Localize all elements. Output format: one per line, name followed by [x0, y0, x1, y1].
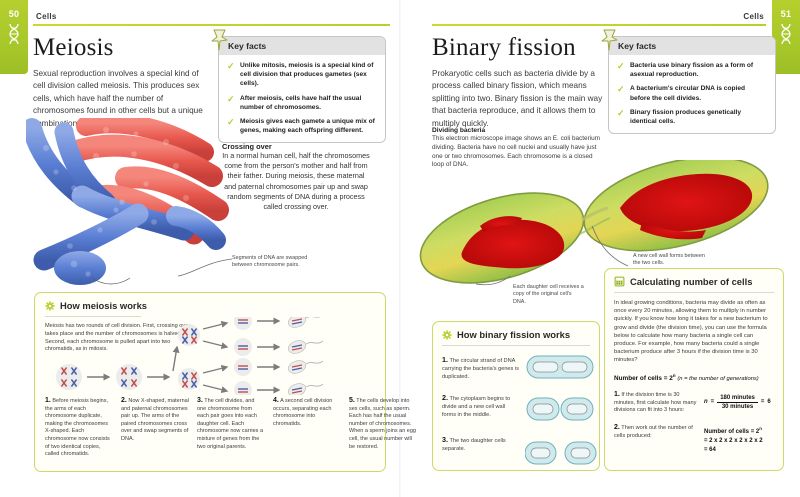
gear-icon — [45, 301, 55, 311]
header-rule-left — [33, 24, 390, 26]
meiosis-flow-diagram — [41, 317, 385, 395]
calculating-paragraph: In ideal growing conditions, bacteria ma… — [614, 299, 774, 365]
step-text: The cell divides, and one chromosome fro… — [197, 398, 263, 450]
calc-step-1: 1. If the division time is 30 minutes, f… — [614, 391, 774, 415]
page-tab-right: 51 — [772, 0, 800, 74]
step-number: 1. — [442, 355, 448, 364]
equation-label: Number of cells — [704, 429, 749, 435]
key-fact-item: ✓ Unlike mitosis, meiosis is a special k… — [227, 61, 377, 89]
step-number: 2. — [121, 397, 127, 404]
step-number: 1. — [45, 397, 51, 404]
cells-equation-line3: = 64 — [704, 446, 763, 455]
bf-step-1: 1. The circular strand of DNA carrying t… — [442, 356, 520, 381]
key-fact-text: After meiosis, cells have half the usual… — [240, 94, 377, 112]
panel-divider — [614, 292, 774, 293]
page-tab-left: 50 — [0, 0, 28, 74]
key-fact-item: ✓ After meiosis, cells have half the usu… — [227, 94, 377, 112]
dna-helix-icon — [779, 23, 793, 45]
crossing-over-title: Crossing over — [222, 142, 370, 151]
page-title-left: Meiosis — [33, 34, 114, 62]
diagram-cell-stage1 — [56, 364, 82, 390]
meiosis-step: 4. A second cell division occurs, separa… — [273, 397, 341, 459]
step-text: The cytoplasm begins to divide and a new… — [442, 396, 510, 418]
dividing-bacteria-title: Dividing bacteria — [432, 127, 602, 134]
page-number-left: 50 — [9, 9, 19, 19]
step-text: Then work out the number of cells produc… — [614, 425, 693, 439]
bacterium-left-cell — [414, 176, 594, 290]
how-meiosis-works-title-row: How meiosis works — [45, 300, 375, 311]
new-cell-wall-caption: A new cell wall forms between the two ce… — [633, 253, 711, 268]
check-icon: ✓ — [617, 84, 625, 102]
calc-step-2-text-wrap: 2. Then work out the number of cells pro… — [614, 424, 698, 441]
key-fact-text: Binary fission produces genetically iden… — [630, 108, 767, 126]
dna-helix-icon — [7, 23, 21, 45]
calculator-icon — [614, 276, 625, 287]
equation-result: 6 — [767, 399, 770, 405]
crossing-over-text: In a normal human cell, half the chromos… — [222, 151, 370, 212]
pushpin-icon — [600, 28, 622, 52]
how-binary-fission-works-panel: How binary fission works 1. The circular… — [432, 321, 600, 471]
key-fact-item: ✓ Meiosis gives each gamete a unique mix… — [227, 117, 377, 135]
key-fact-item: ✓ Binary fission produces genetically id… — [617, 108, 767, 126]
diagram-cell-stage3-bottom — [178, 368, 200, 390]
step-text: If the division time is 30 minutes, firs… — [614, 392, 696, 414]
calc-step-2: 2. Then work out the number of cells pro… — [614, 424, 774, 455]
check-icon: ✓ — [227, 94, 235, 112]
calc-step-1-text-wrap: 1. If the division time is 30 minutes, f… — [614, 391, 698, 415]
page-title-right: Binary fission — [432, 34, 576, 62]
step-number: 5. — [349, 397, 355, 404]
calc-step-2-equation: Number of cells = 2n = 2 x 2 x 2 x 2 x 2… — [704, 424, 763, 455]
key-fact-text: Meiosis gives each gamete a unique mix o… — [240, 117, 377, 135]
calculating-title: Calculating number of cells — [630, 276, 752, 287]
how-binary-fission-title-row: How binary fission works — [442, 329, 590, 340]
check-icon: ✓ — [617, 108, 625, 126]
step-text: The circular strand of DNA carrying the … — [442, 358, 519, 380]
step-number: 2. — [614, 424, 620, 431]
fraction-denominator: 30 minutes — [717, 403, 758, 410]
step-text: Before meiosis begins, the arms of each … — [45, 398, 110, 457]
check-icon: ✓ — [617, 61, 625, 79]
how-meiosis-works-title: How meiosis works — [60, 300, 147, 311]
step-number: 3. — [442, 435, 448, 444]
diagram-gamete-cells — [234, 317, 252, 395]
page-number-right: 51 — [781, 9, 791, 19]
meiosis-step: 2. Now X-shaped, maternal and paternal c… — [121, 397, 189, 459]
step-text: A second cell division occurs, separatin… — [273, 398, 332, 427]
equation-exponent: n — [759, 426, 762, 431]
formula-exponent: n — [673, 373, 676, 378]
key-facts-heading-left: Key facts — [219, 37, 385, 55]
meiosis-step: 3. The cell divides, and one chromosome … — [197, 397, 265, 459]
step-number: 2. — [442, 393, 448, 402]
header-rule-right — [432, 24, 766, 26]
key-facts-box-right: Key facts ✓ Bacteria use binary fission … — [608, 36, 776, 134]
key-facts-heading-right: Key facts — [609, 37, 775, 55]
bacterium-right-cell — [575, 160, 778, 267]
how-meiosis-works-panel: How meiosis works Meiosis has two rounds… — [34, 292, 386, 472]
binary-fission-cell-diagrams — [525, 354, 597, 470]
check-icon: ✓ — [227, 61, 235, 89]
step-text: The two daughter cells separate. — [442, 438, 506, 452]
fraction-numerator: 180 minutes — [717, 395, 758, 403]
fraction: 180 minutes 30 minutes — [717, 395, 758, 410]
bf-diagram-2 — [527, 398, 593, 420]
key-fact-item: ✓ A bacterium's circular DNA is copied b… — [617, 84, 767, 102]
how-binary-fission-title: How binary fission works — [457, 329, 570, 340]
running-head-left: Cells — [36, 12, 57, 21]
step-number: 3. — [197, 397, 203, 404]
calculating-cells-panel: Calculating number of cells In ideal gro… — [604, 268, 784, 471]
step-number: 1. — [614, 391, 620, 398]
cells-formula-line: Number of cells = 2n (n = the number of … — [614, 373, 774, 382]
calculating-title-row: Calculating number of cells — [614, 276, 774, 287]
intro-paragraph-right: Prokaryotic cells such as bacteria divid… — [432, 68, 604, 130]
running-head-right: Cells — [743, 12, 764, 21]
meiosis-steps: 1. Before meiosis begins, the arms of ea… — [45, 397, 417, 459]
calc-step-1-equation: n = 180 minutes 30 minutes = 6 — [704, 391, 771, 410]
daughter-cell-caption: Each daughter cell receives a copy of th… — [513, 284, 585, 306]
bf-diagram-3 — [525, 442, 596, 464]
formula-note: (n = the number of generations) — [677, 376, 758, 382]
key-fact-item: ✓ Bacteria use binary fission as a form … — [617, 61, 767, 79]
bf-diagram-1 — [527, 356, 593, 378]
step-number: 4. — [273, 397, 279, 404]
diagram-cell-stage2 — [116, 364, 142, 390]
book-spread: 50 Cells Meiosis Sexual reproduction inv… — [0, 0, 800, 497]
formula-label: Number of cells = 2 — [614, 375, 673, 382]
equals-sign: = — [711, 399, 715, 405]
diagram-sperm-cells — [286, 317, 323, 395]
step-text: Now X-shaped, maternal and paternal chro… — [121, 398, 189, 442]
meiosis-step: 1. Before meiosis begins, the arms of ea… — [45, 397, 113, 459]
bf-step-2: 2. The cytoplasm begins to divide and a … — [442, 394, 520, 419]
dna-swap-caption: Segments of DNA are swapped between chro… — [232, 255, 310, 270]
equals-sign: = — [751, 429, 755, 435]
right-page: 51 Cells Binary fission Prokaryotic cell… — [400, 0, 800, 497]
key-facts-list-right: ✓ Bacteria use binary fission as a form … — [609, 55, 775, 133]
diagram-cell-stage3-top — [178, 324, 200, 346]
equals-sign-2: = — [761, 399, 765, 405]
left-page: 50 Cells Meiosis Sexual reproduction inv… — [0, 0, 400, 497]
gear-icon — [442, 330, 452, 340]
key-fact-text: A bacterium's circular DNA is copied bef… — [630, 84, 767, 102]
crossing-over-callout: Crossing over In a normal human cell, ha… — [222, 142, 370, 212]
pushpin-icon — [210, 28, 232, 52]
panel-divider — [442, 345, 590, 346]
cells-equation-line1: Number of cells = 2n — [704, 424, 763, 437]
equation-variable: n — [704, 399, 708, 405]
key-fact-text: Bacteria use binary fission as a form of… — [630, 61, 767, 79]
cells-equation-line2: = 2 x 2 x 2 x 2 x 2 x 2 — [704, 437, 763, 446]
key-fact-text: Unlike mitosis, meiosis is a special kin… — [240, 61, 377, 89]
bf-step-3: 3. The two daughter cells separate. — [442, 436, 520, 454]
